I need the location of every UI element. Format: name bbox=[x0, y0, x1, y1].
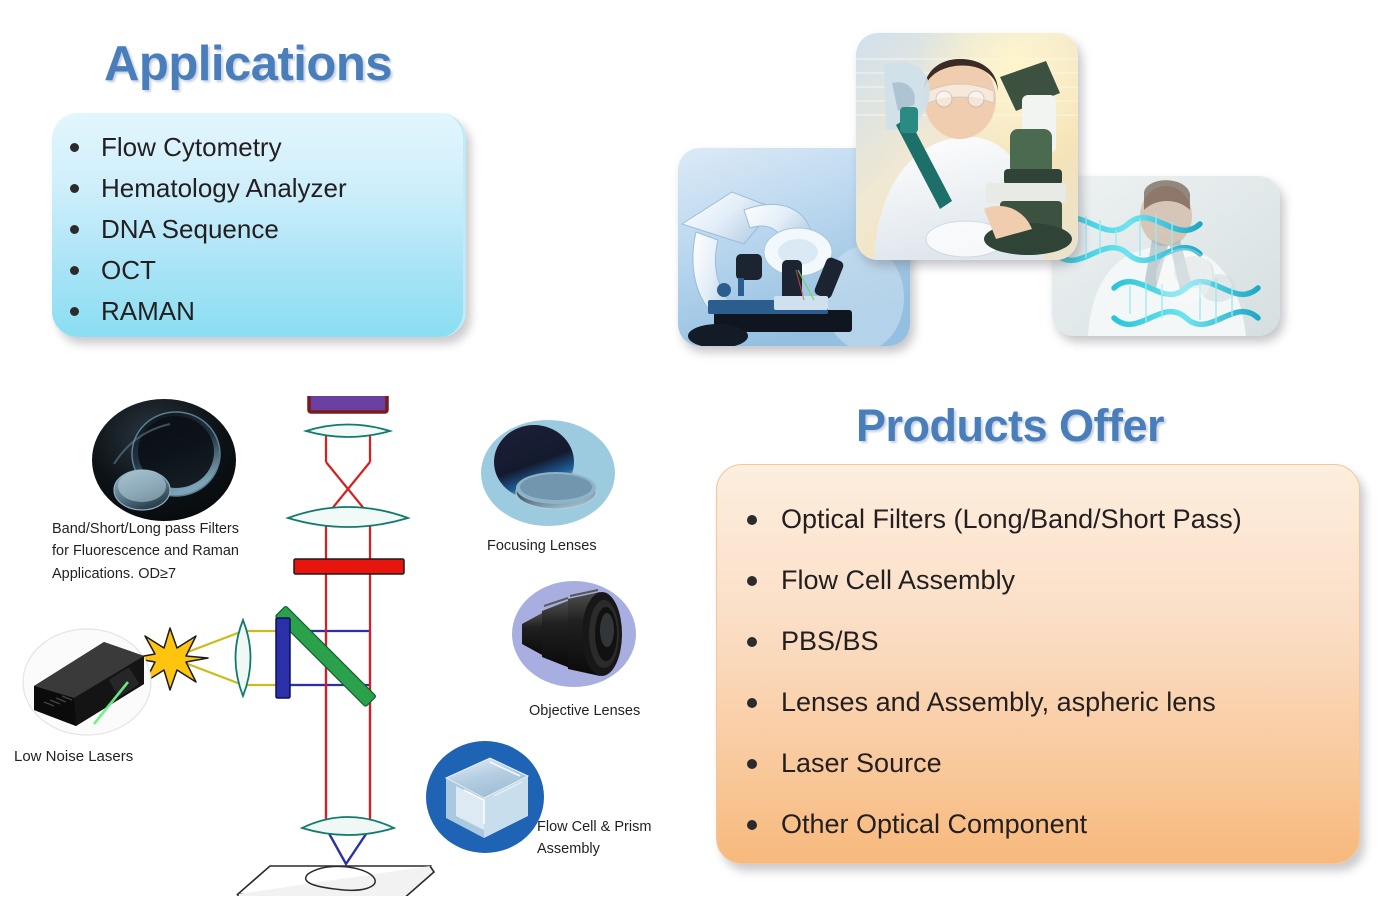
list-item[interactable]: Flow Cytometry bbox=[70, 127, 463, 168]
dna-photo-graphic bbox=[1052, 176, 1280, 336]
applications-heading: Applications bbox=[104, 36, 392, 92]
bullet-icon bbox=[70, 307, 79, 316]
list-item[interactable]: Lenses and Assembly, aspheric lens bbox=[747, 672, 1359, 733]
slide-canvas: Applications Flow Cytometry Hematology A… bbox=[0, 0, 1388, 898]
applications-panel: Flow Cytometry Hematology Analyzer DNA S… bbox=[52, 113, 466, 337]
products-panel: Optical Filters (Long/Band/Short Pass) F… bbox=[716, 464, 1360, 864]
lab-scientist-photo-graphic bbox=[856, 33, 1078, 260]
products-item-label: Optical Filters (Long/Band/Short Pass) bbox=[781, 504, 1242, 535]
bullet-icon bbox=[747, 576, 757, 586]
products-heading: Products Offer bbox=[856, 400, 1164, 452]
list-item[interactable]: Other Optical Component bbox=[747, 794, 1359, 855]
bullet-icon bbox=[747, 820, 757, 830]
focusing-lens-icon bbox=[478, 418, 618, 528]
bullet-icon bbox=[70, 143, 79, 152]
applications-item-label: DNA Sequence bbox=[101, 214, 279, 245]
emission-filter bbox=[294, 559, 404, 574]
list-item[interactable]: DNA Sequence bbox=[70, 209, 463, 250]
applications-item-label: Flow Cytometry bbox=[101, 132, 282, 163]
laser-thumbnail bbox=[8, 628, 166, 742]
list-item[interactable]: Optical Filters (Long/Band/Short Pass) bbox=[747, 489, 1359, 550]
flow-cell-prism-icon bbox=[424, 738, 546, 856]
products-item-label: Flow Cell Assembly bbox=[781, 565, 1015, 596]
optical-filters-caption: Band/Short/Long pass Filters for Fluores… bbox=[52, 518, 282, 585]
products-item-label: Lenses and Assembly, aspheric lens bbox=[781, 687, 1216, 718]
bullet-icon bbox=[747, 515, 757, 525]
applications-list: Flow Cytometry Hematology Analyzer DNA S… bbox=[52, 113, 463, 332]
dna-photo bbox=[1052, 176, 1280, 336]
list-item[interactable]: Flow Cell Assembly bbox=[747, 550, 1359, 611]
tube-lens bbox=[306, 425, 390, 438]
list-item[interactable]: Laser Source bbox=[747, 733, 1359, 794]
laser-caption: Low Noise Lasers bbox=[14, 745, 133, 768]
applications-item-label: RAMAN bbox=[101, 296, 195, 327]
list-item[interactable]: PBS/BS bbox=[747, 611, 1359, 672]
bullet-icon bbox=[70, 266, 79, 275]
objective-lenses-thumbnail bbox=[508, 578, 640, 690]
list-item[interactable]: OCT bbox=[70, 250, 463, 291]
bullet-icon bbox=[747, 637, 757, 647]
objective-lens-icon bbox=[508, 578, 640, 690]
bullet-icon bbox=[747, 698, 757, 708]
optical-filters-thumbnail bbox=[88, 398, 240, 524]
bullet-icon bbox=[747, 759, 757, 769]
products-item-label: Laser Source bbox=[781, 748, 942, 779]
focusing-lenses-caption: Focusing Lenses bbox=[487, 535, 597, 557]
emission-beam bbox=[326, 430, 370, 826]
sample-slide bbox=[238, 866, 434, 896]
bullet-icon bbox=[70, 225, 79, 234]
products-item-label: Other Optical Component bbox=[781, 809, 1087, 840]
products-list: Optical Filters (Long/Band/Short Pass) F… bbox=[717, 465, 1359, 855]
products-item-label: PBS/BS bbox=[781, 626, 879, 657]
objective-lenses-caption: Objective Lenses bbox=[529, 700, 640, 722]
flow-cell-thumbnail bbox=[424, 738, 546, 856]
laser-module-icon bbox=[8, 628, 166, 742]
applications-item-label: Hematology Analyzer bbox=[101, 173, 347, 204]
list-item[interactable]: RAMAN bbox=[70, 291, 463, 332]
applications-item-label: OCT bbox=[101, 255, 156, 286]
list-item[interactable]: Hematology Analyzer bbox=[70, 168, 463, 209]
objective-lens bbox=[302, 817, 394, 835]
excitation-filter bbox=[276, 618, 290, 698]
flow-cell-caption: Flow Cell & Prism Assembly bbox=[537, 816, 651, 861]
detector-box bbox=[309, 396, 387, 412]
focusing-lenses-thumbnail bbox=[478, 418, 618, 528]
lab-scientist-photo bbox=[856, 33, 1078, 260]
bullet-icon bbox=[70, 184, 79, 193]
collimating-lens bbox=[288, 507, 408, 527]
optical-filter-discs-icon bbox=[88, 398, 240, 524]
